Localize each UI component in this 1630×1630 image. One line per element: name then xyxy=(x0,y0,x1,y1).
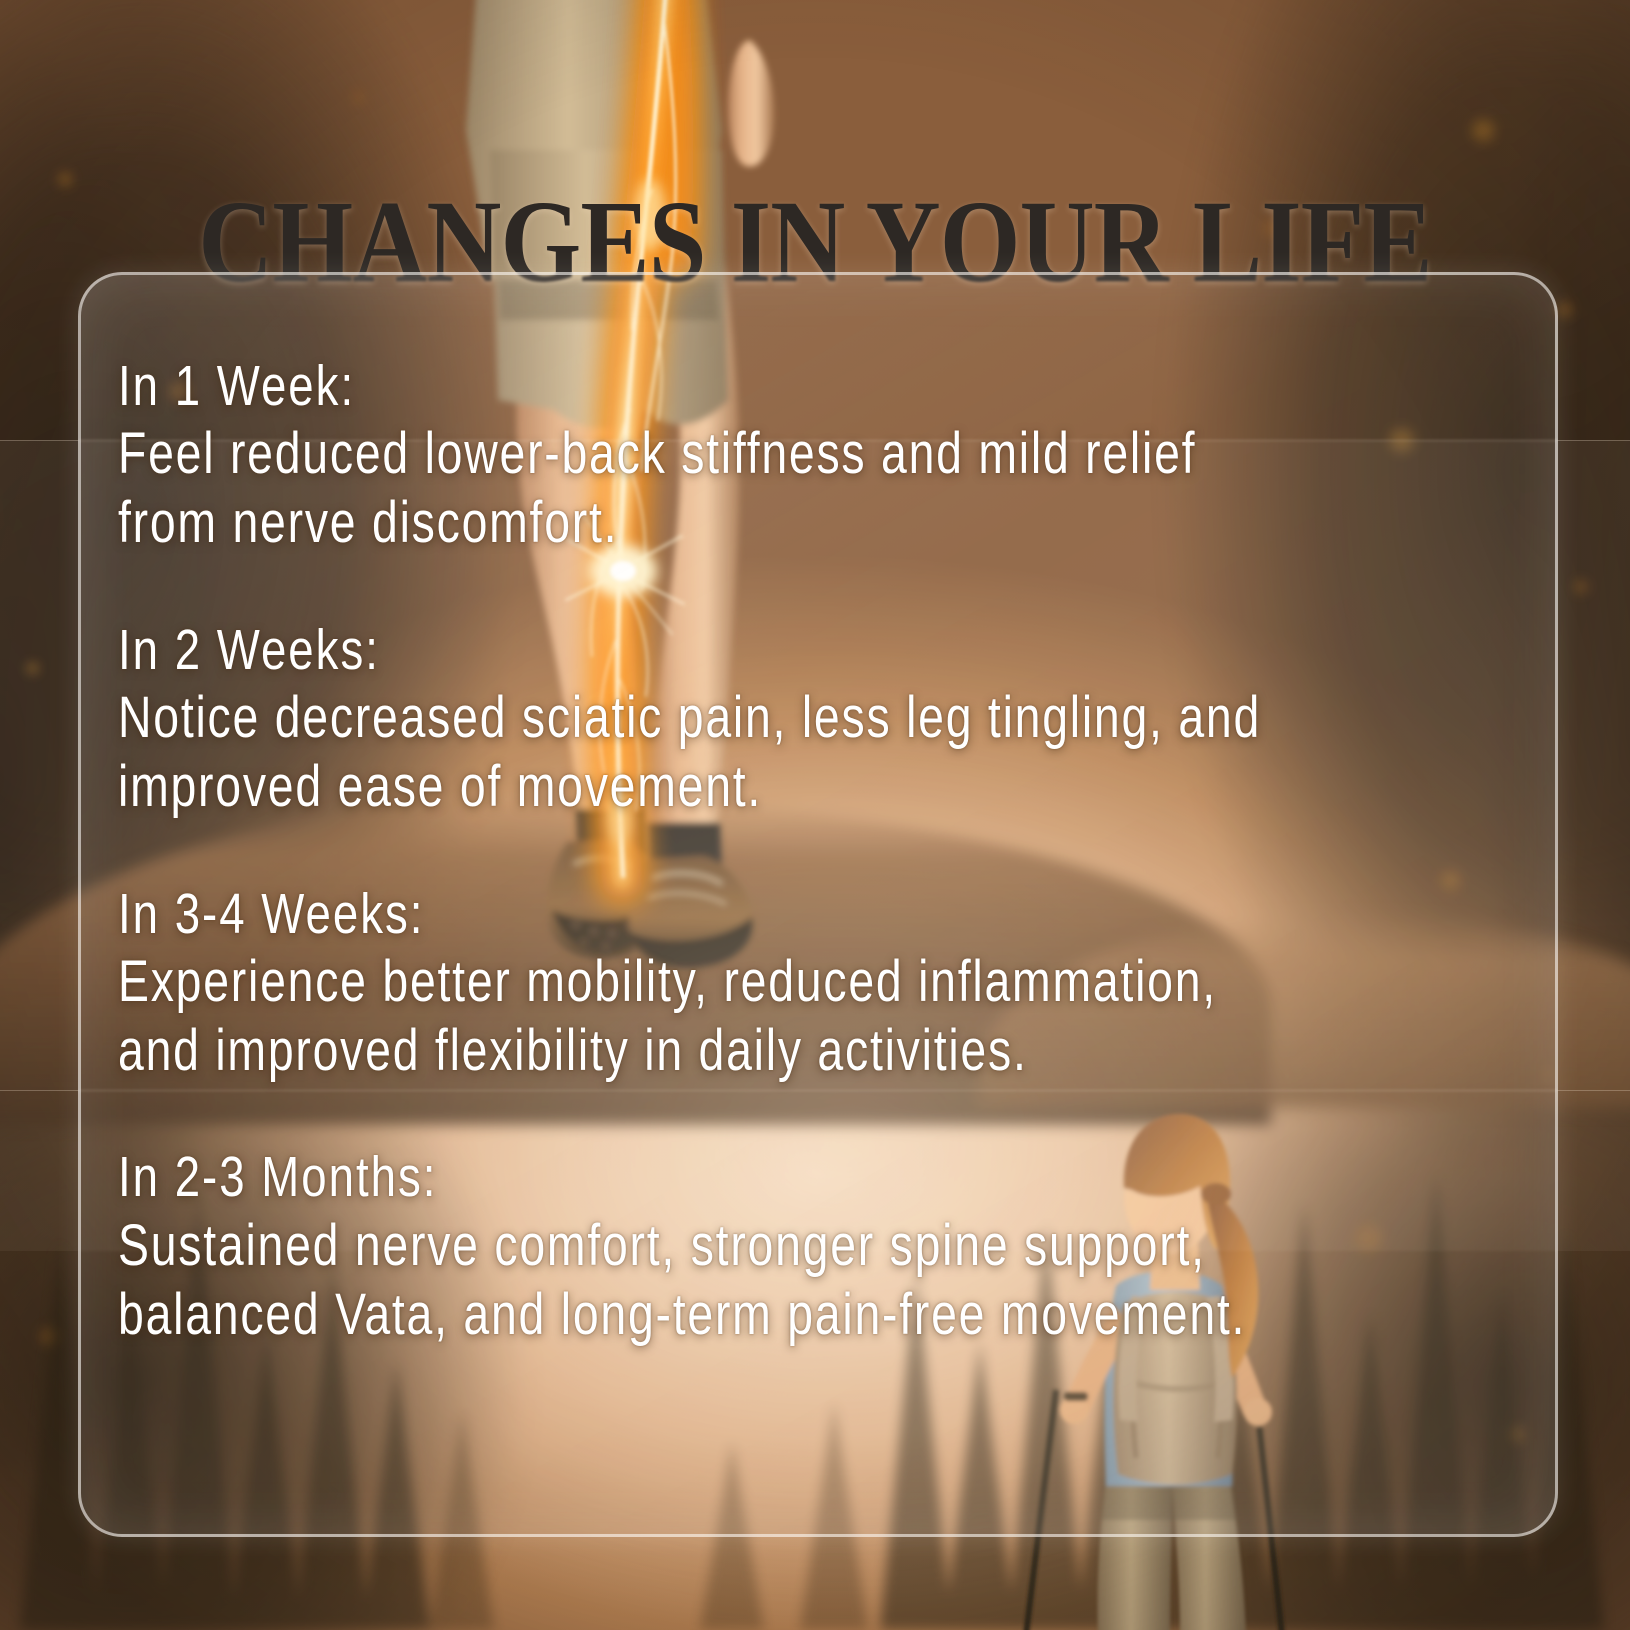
timeline-line: and improved flexibility in daily activi… xyxy=(118,1017,1206,1086)
timeline-label: In 3-4 Weeks: xyxy=(118,880,1206,948)
timeline-description: Feel reduced lower-back stiffness and mi… xyxy=(118,420,1206,557)
timeline-label: In 2-3 Months: xyxy=(118,1143,1206,1211)
timeline-line: Feel reduced lower-back stiffness and mi… xyxy=(118,420,1206,489)
timeline-line: Sustained nerve comfort, stronger spine … xyxy=(118,1212,1206,1281)
timeline-line: Notice decreased sciatic pain, less leg … xyxy=(118,684,1206,753)
timeline-label: In 2 Weeks: xyxy=(118,616,1206,684)
timeline-line: improved ease of movement. xyxy=(118,753,1206,822)
timeline-line: from nerve discomfort. xyxy=(118,489,1206,558)
timeline-item-2-3-months: In 2-3 Months: Sustained nerve comfort, … xyxy=(118,1143,1478,1349)
timeline-list: In 1 Week: Feel reduced lower-back stiff… xyxy=(118,352,1478,1349)
timeline-item-1-week: In 1 Week: Feel reduced lower-back stiff… xyxy=(118,352,1478,558)
timeline-description: Sustained nerve comfort, stronger spine … xyxy=(118,1212,1206,1349)
timeline-item-3-4-weeks: In 3-4 Weeks: Experience better mobility… xyxy=(118,880,1478,1086)
timeline-label: In 1 Week: xyxy=(118,352,1206,420)
timeline-description: Experience better mobility, reduced infl… xyxy=(118,948,1206,1085)
timeline-line: Experience better mobility, reduced infl… xyxy=(118,948,1206,1017)
timeline-line: balanced Vata, and long-term pain-free m… xyxy=(118,1281,1206,1350)
timeline-description: Notice decreased sciatic pain, less leg … xyxy=(118,684,1206,821)
poster-root: CHANGES IN YOUR LIFE In 1 Week: Feel red… xyxy=(0,0,1630,1630)
timeline-item-2-weeks: In 2 Weeks: Notice decreased sciatic pai… xyxy=(118,616,1478,822)
